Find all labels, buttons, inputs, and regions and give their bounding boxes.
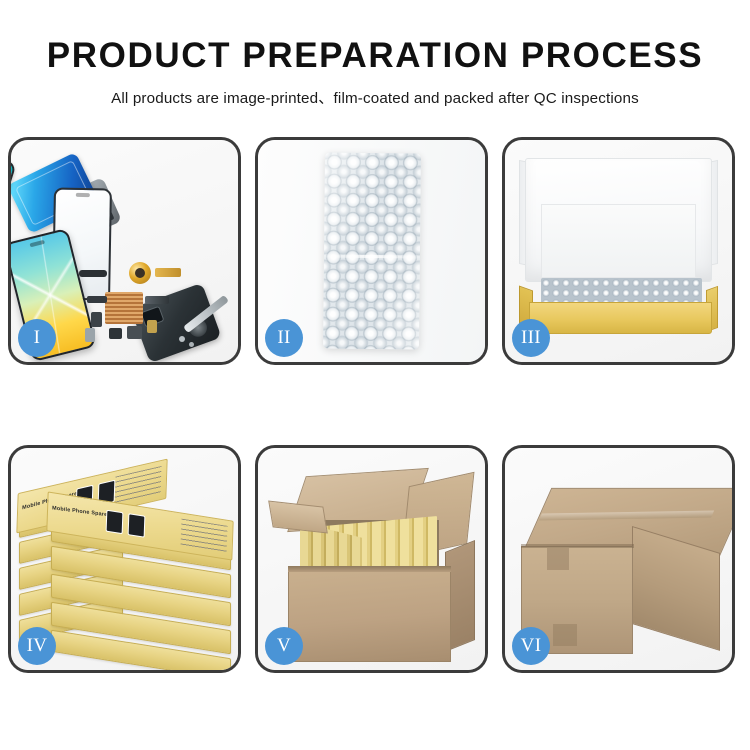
step-badge-3: III (512, 319, 550, 357)
carton-top-edge (521, 544, 634, 548)
gloss-highlight (322, 153, 420, 350)
component-icon (127, 326, 142, 339)
spec-text-lines (181, 519, 228, 554)
flex-cable-icon (145, 296, 169, 304)
product-preparation-infographic: PRODUCT PREPARATION PROCESS All products… (0, 0, 750, 750)
process-step-panel-3: III (502, 137, 735, 365)
component-icon (85, 328, 95, 342)
step-badge-6: VI (512, 627, 550, 665)
process-step-panel-5: V (255, 445, 488, 673)
screw-icon (189, 342, 194, 347)
step-badge-4: IV (18, 627, 56, 665)
shipping-carton-open-icon (270, 472, 475, 662)
shipping-carton-sealed-icon (521, 482, 720, 654)
copper-coil-icon (129, 262, 151, 284)
process-step-panel-4: Mobile Phone Spare Parts Mobile Phone Sp… (8, 445, 241, 673)
carton-rim (288, 566, 451, 572)
screw-icon (179, 336, 185, 342)
step-badge-1: I (18, 319, 56, 357)
flex-cable-icon (155, 268, 181, 277)
bubble-wrap-icon (541, 278, 702, 304)
step-badge-5: V (265, 627, 303, 665)
process-step-grid: I II (8, 137, 742, 673)
carton-flap-left (268, 501, 328, 534)
header: PRODUCT PREPARATION PROCESS All products… (0, 0, 750, 108)
carton-flap-tab (553, 624, 577, 646)
step-badge-2: II (265, 319, 303, 357)
process-step-panel-1: I (8, 137, 241, 365)
box-front-panel (529, 302, 712, 334)
component-icon (109, 328, 122, 339)
small-parts-cluster (83, 262, 203, 354)
inner-box-icon (519, 158, 718, 332)
screen-thumbnail (128, 513, 146, 538)
screen-thumbnail (106, 510, 124, 535)
bubble-wrap-icon (322, 153, 420, 350)
spec-text-lines (115, 466, 162, 505)
copper-mesh-icon (105, 292, 143, 324)
flex-cable-icon (87, 296, 107, 303)
process-step-panel-6: VI (502, 445, 735, 673)
box-interior (541, 204, 696, 278)
page-subtitle: All products are image-printed、film-coat… (0, 86, 750, 108)
component-icon (91, 312, 102, 327)
page-title: PRODUCT PREPARATION PROCESS (0, 38, 750, 75)
speaker-bar-icon (79, 270, 107, 277)
component-icon (147, 320, 157, 333)
carton-front-panel (288, 568, 451, 662)
carton-flap-tab (547, 548, 569, 570)
process-step-panel-2: II (255, 137, 488, 365)
